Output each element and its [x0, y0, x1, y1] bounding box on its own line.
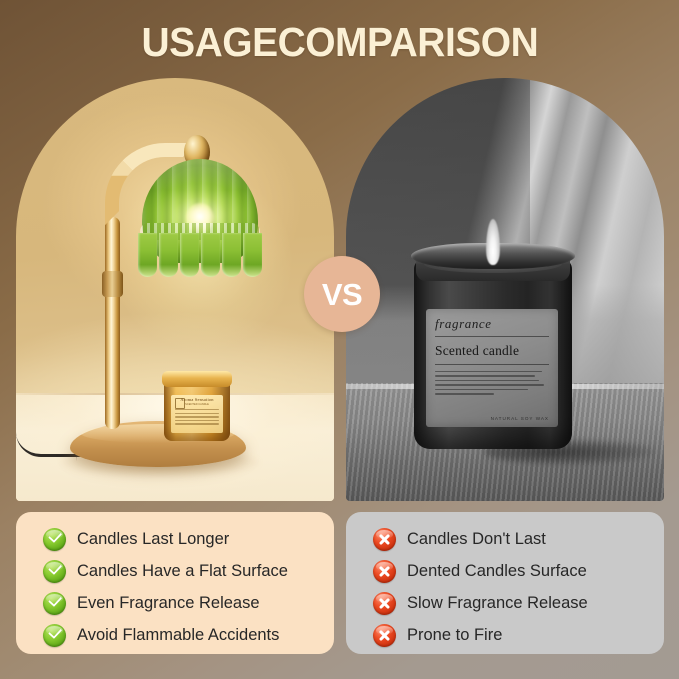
list-item-label: Dented Candles Surface — [407, 561, 587, 581]
comparison-column-pros: Aroma Sensation SCENTED CANDLE Candle — [16, 78, 334, 658]
check-circle-icon — [43, 624, 66, 647]
usage-comparison-infographic: USAGECOMPARISON — [0, 0, 679, 679]
jar-label-footer: NATURAL SOY WAX — [491, 416, 549, 421]
list-item-label: Candles Last Longer — [77, 529, 229, 549]
comparison-column-cons: fragrance Scented candle NATURAL SOY WAX — [346, 78, 664, 658]
list-item-label: Even Fragrance Release — [77, 593, 260, 613]
jar-rim — [162, 371, 232, 387]
check-circle-icon — [43, 528, 66, 551]
shade-petals — [138, 233, 262, 279]
versus-label: VS — [322, 279, 362, 310]
jar-label-rule-mid — [435, 364, 549, 365]
list-item: Dented Candles Surface — [346, 556, 664, 586]
x-circle-icon — [373, 592, 396, 615]
list-item: Slow Fragrance Release — [346, 588, 664, 618]
list-item-label: Avoid Flammable Accidents — [77, 625, 279, 645]
list-item-label: Candles Have a Flat Surface — [77, 561, 288, 581]
list-item: Candles Last Longer — [16, 524, 334, 554]
x-circle-icon — [373, 528, 396, 551]
bw-scene-background: fragrance Scented candle NATURAL SOY WAX — [346, 78, 664, 501]
amber-candle-jar: Aroma Sensation SCENTED CANDLE — [164, 369, 230, 441]
jar-label-script: fragrance — [435, 316, 549, 331]
product-photo-candle-warmer: Aroma Sensation SCENTED CANDLE — [16, 78, 334, 501]
list-item: Candles Have a Flat Surface — [16, 556, 334, 586]
pros-list-card: Candles Last Longer Candles Have a Flat … — [16, 512, 334, 654]
page-title-text: USAGECOMPARISON — [141, 18, 538, 66]
comparison-columns: Aroma Sensation SCENTED CANDLE Candle — [0, 78, 679, 658]
lamp-post — [105, 217, 120, 429]
green-glass-shade — [134, 159, 266, 289]
jar-label-body-lines — [171, 409, 223, 425]
page-title: USAGECOMPARISON — [0, 18, 679, 66]
list-item-label: Candles Don't Last — [407, 529, 546, 549]
list-item: Prone to Fire — [346, 620, 664, 650]
list-item-label: Slow Fragrance Release — [407, 593, 588, 613]
list-item: Avoid Flammable Accidents — [16, 620, 334, 650]
warm-scene-background: Aroma Sensation SCENTED CANDLE — [16, 78, 334, 501]
versus-badge: VS — [304, 256, 380, 332]
jar-label-rule-top — [435, 336, 549, 337]
black-candle-jar: fragrance Scented candle NATURAL SOY WAX — [414, 237, 572, 449]
jar-label: fragrance Scented candle NATURAL SOY WAX — [426, 309, 558, 427]
product-photo-scented-candle: fragrance Scented candle NATURAL SOY WAX — [346, 78, 664, 501]
jar-label-emblem — [175, 398, 185, 409]
list-item: Candles Don't Last — [346, 524, 664, 554]
x-circle-icon — [373, 560, 396, 583]
jar-label-body-lines — [435, 371, 549, 395]
jar-label: Aroma Sensation SCENTED CANDLE — [171, 395, 223, 433]
list-item: Even Fragrance Release — [16, 588, 334, 618]
lamp-post-collar — [102, 271, 123, 297]
jar-label-name: Scented candle — [435, 343, 549, 359]
cons-list-card: Candles Don't Last Dented Candles Surfac… — [346, 512, 664, 654]
check-circle-icon — [43, 560, 66, 583]
x-circle-icon — [373, 624, 396, 647]
list-item-label: Prone to Fire — [407, 625, 502, 645]
check-circle-icon — [43, 592, 66, 615]
